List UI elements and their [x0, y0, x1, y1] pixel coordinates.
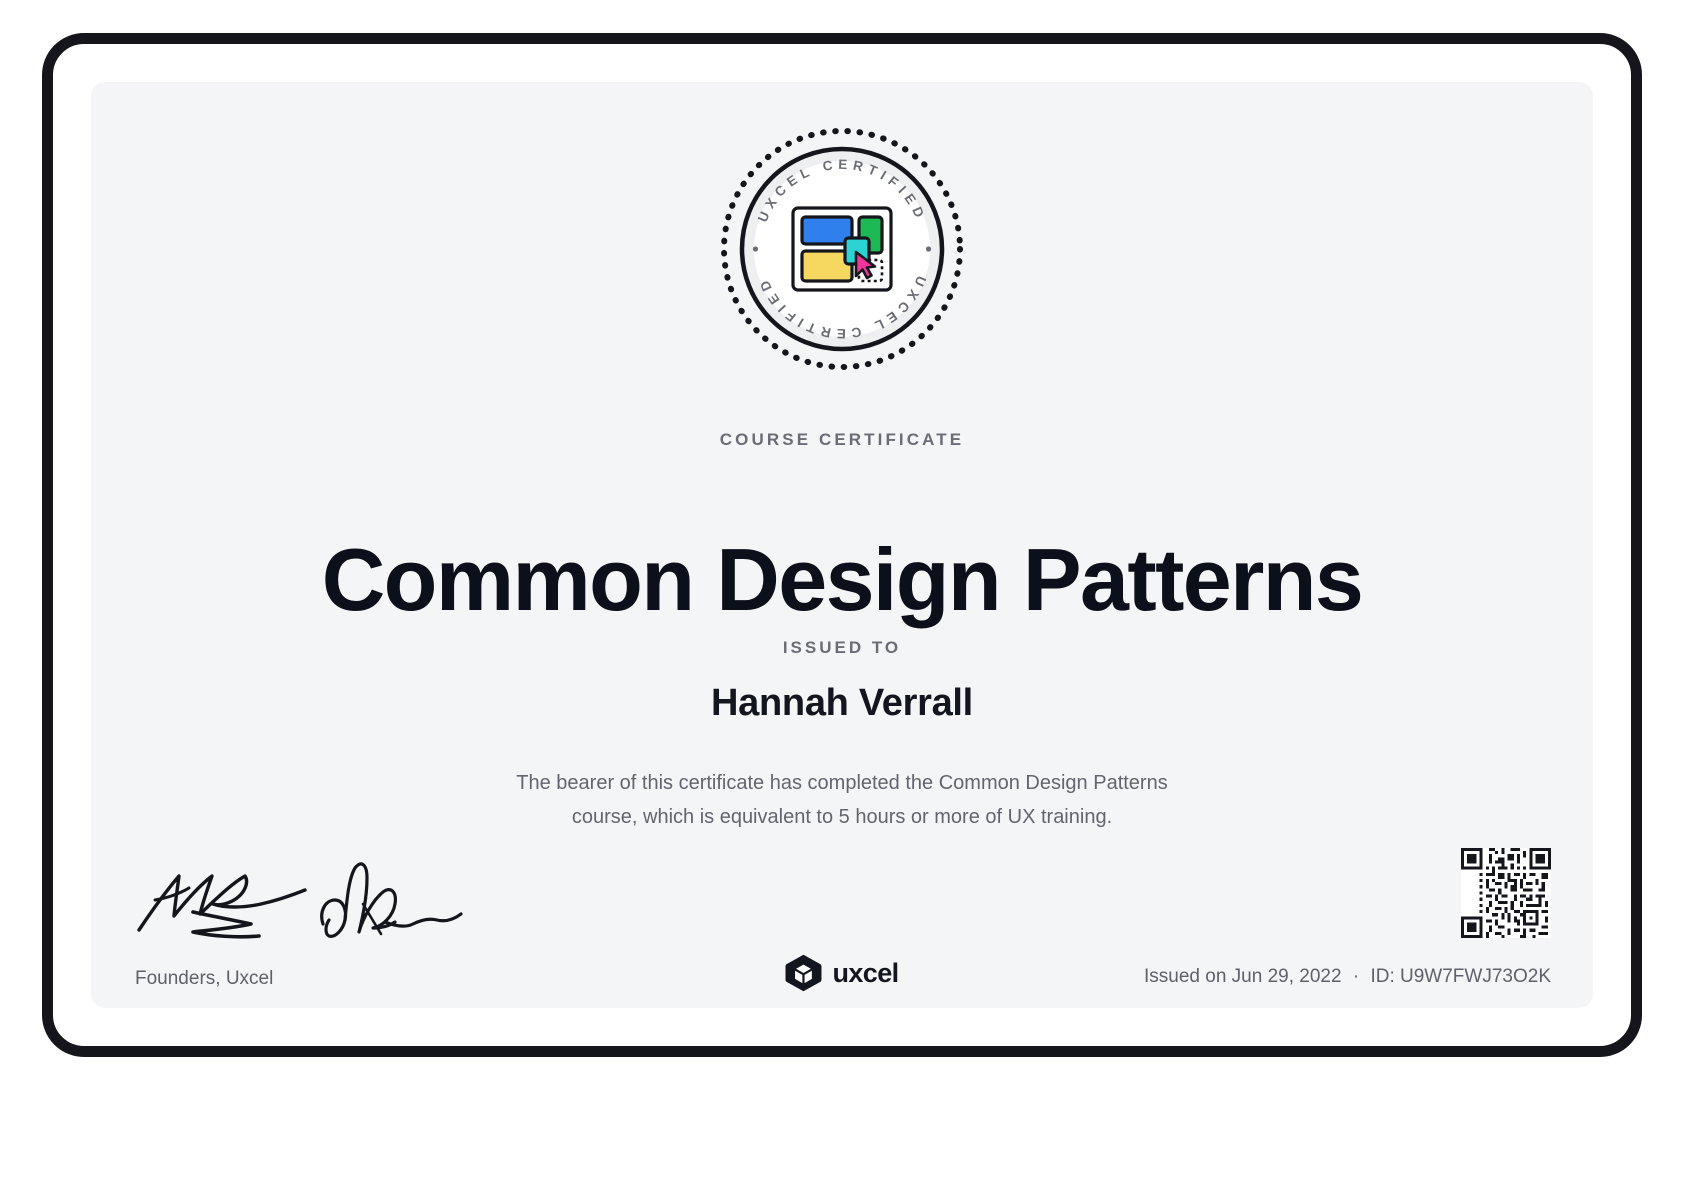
recipient-name: Hannah Verrall [91, 682, 1593, 725]
uxcel-wordmark: uxcel [832, 958, 898, 989]
certificate-title: Common Design Patterns [91, 533, 1593, 626]
design-patterns-layout-icon [793, 208, 891, 290]
uxcel-brand: uxcel [785, 954, 898, 992]
issued-on-date: Issued on Jun 29, 2022 [1144, 966, 1342, 987]
signature-caption: Founders, Uxcel [135, 968, 273, 990]
description-line-2: course, which is equivalent to 5 hours o… [572, 806, 1112, 828]
certificate-body: UXCEL CERTIFIED UXCEL CERTIFIED [91, 82, 1593, 1008]
eyebrow-label: COURSE CERTIFICATE [91, 430, 1593, 450]
description-line-1: The bearer of this certificate has compl… [516, 772, 1167, 794]
certificate-id: ID: U9W7FWJ73O2K [1370, 966, 1551, 987]
uxcel-hexagon-cube-logo [785, 954, 821, 992]
certificate-description: The bearer of this certificate has compl… [462, 766, 1222, 835]
issuance-meta: Issued on Jun 29, 2022 · ID: U9W7FWJ73O2… [1144, 966, 1551, 988]
verification-qr-code[interactable] [1461, 848, 1551, 938]
issued-to-label: ISSUED TO [91, 638, 1593, 658]
certification-seal: UXCEL CERTIFIED UXCEL CERTIFIED [717, 124, 967, 374]
certificate-frame: UXCEL CERTIFIED UXCEL CERTIFIED [42, 33, 1642, 1057]
meta-separator: · [1347, 966, 1365, 987]
founder-signatures [133, 842, 463, 952]
